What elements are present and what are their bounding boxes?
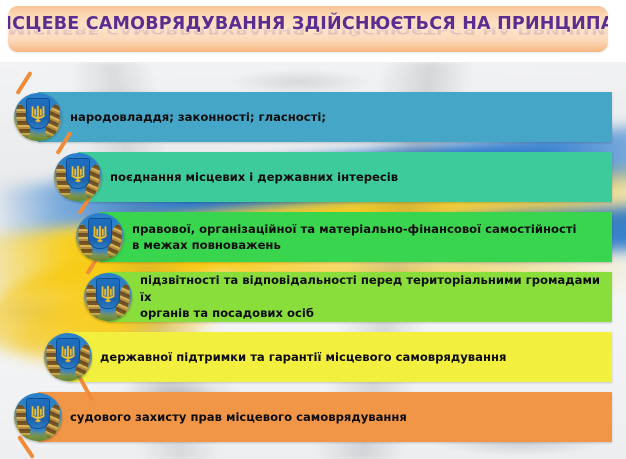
emblem-ground (14, 432, 62, 441)
emblem-ground (14, 132, 62, 141)
principle-label: правової, організаційної та матеріально-… (132, 221, 577, 254)
slide-canvas: МІСЦЕВЕ САМОВРЯДУВАННЯ ЗДІЙСНЮЄТЬСЯ НА П… (0, 0, 626, 459)
emblem-ground (54, 192, 102, 201)
shield-icon (88, 218, 112, 249)
principle-bar[interactable]: поєднання місцевих і державних інтересів (78, 152, 612, 202)
shield-icon (26, 398, 50, 429)
emblem-ground (44, 372, 92, 381)
trident-icon (71, 164, 86, 184)
shield-icon (26, 98, 50, 129)
ukrainian-coat-of-arms-icon (44, 333, 92, 381)
ukrainian-coat-of-arms-icon (54, 153, 102, 201)
principle-bar[interactable]: державної підтримки та гарантії місцевог… (68, 332, 612, 382)
emblem-ground (76, 252, 124, 261)
principle-bar[interactable]: народовладдя; законності; гласності; (38, 92, 612, 142)
ukrainian-coat-of-arms-icon (14, 93, 62, 141)
trident-icon (31, 104, 46, 124)
ukrainian-coat-of-arms-icon (84, 273, 132, 321)
shield-icon (56, 338, 80, 369)
principle-bar[interactable]: правової, організаційної та матеріально-… (100, 212, 612, 262)
shield-icon (96, 278, 120, 309)
trident-icon (31, 404, 46, 424)
principle-bar[interactable]: судового захисту прав місцевого самовряд… (38, 392, 612, 442)
emblem-ground (84, 312, 132, 321)
trident-icon (61, 344, 76, 364)
principle-label: народовладдя; законності; гласності; (70, 109, 326, 125)
shield-icon (66, 158, 90, 189)
trident-icon (101, 284, 116, 304)
principle-label: судового захисту прав місцевого самовряд… (70, 409, 407, 425)
ukrainian-coat-of-arms-icon (76, 213, 124, 261)
principle-label: державної підтримки та гарантії місцевог… (100, 349, 506, 365)
ukrainian-coat-of-arms-icon (14, 393, 62, 441)
title-banner: МІСЦЕВЕ САМОВРЯДУВАННЯ ЗДІЙСНЮЄТЬСЯ НА П… (8, 6, 608, 52)
principle-label: підзвітності та відповідальності перед т… (140, 272, 612, 321)
principle-bar[interactable]: підзвітності та відповідальності перед т… (108, 272, 612, 322)
principle-label: поєднання місцевих і державних інтересів (110, 169, 398, 185)
page-title: МІСЦЕВЕ САМОВРЯДУВАННЯ ЗДІЙСНЮЄТЬСЯ НА П… (8, 16, 608, 34)
trident-icon (93, 224, 108, 244)
